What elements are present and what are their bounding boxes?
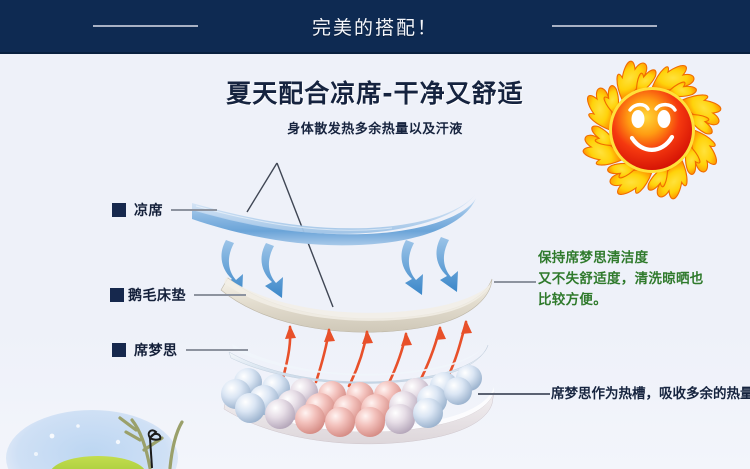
green-note-line-1: 保持席梦思清洁度 (538, 248, 748, 269)
legend-leader-line (186, 349, 248, 351)
green-note-leader-line (494, 281, 536, 283)
legend-bullet-icon (112, 343, 126, 357)
decorative-nature-image (0, 398, 210, 469)
product-detail-page: 完美的搭配！ 夏天配合凉席-干净又舒适 身体散发热多余热量以及汗液 (0, 0, 750, 469)
legend-label-cooling-mat: 凉席 (134, 200, 163, 220)
layer-spring-mattress (221, 337, 494, 444)
layer-cooling-mat (192, 193, 476, 245)
bottom-note-leader-line (478, 393, 550, 395)
green-note-line-3: 比较方便。 (538, 290, 748, 311)
legend-item-cooling-mat: 凉席 (112, 200, 217, 220)
legend-bullet-icon (112, 203, 126, 217)
legend-item-spring-mattress: 席梦思 (112, 340, 248, 360)
legend-label-spring-mattress: 席梦思 (134, 340, 178, 360)
green-note-line-2: 又不失舒适度，清洗晾晒也 (538, 269, 748, 290)
legend-label-feather-pad: 鹅毛床垫 (128, 285, 186, 305)
cool-airflow-arrows (221, 237, 458, 298)
legend-leader-line (171, 209, 217, 211)
green-note: 保持席梦思清洁度 又不失舒适度，清洗晾晒也 比较方便。 (538, 248, 748, 311)
legend-bullet-icon (110, 288, 124, 302)
legend-leader-line (194, 294, 246, 296)
legend-item-feather-pad: 鹅毛床垫 (110, 285, 246, 305)
bottom-note: 席梦思作为热槽，吸收多余的热量 (551, 385, 750, 403)
